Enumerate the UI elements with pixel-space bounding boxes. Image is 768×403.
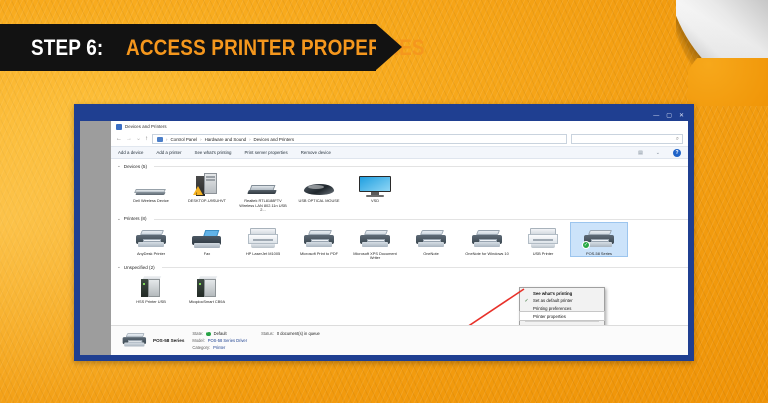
mouse-icon [296,173,342,197]
printer-tile-pos-58-series[interactable]: ✓ POS-58 Series [571,223,627,257]
breadcrumb-item-devices-and-printers[interactable]: Devices and Printers [254,137,295,142]
remove-device-button[interactable]: Remove device [301,150,331,155]
command-bar: Add a device Add a printer See what's pr… [111,146,688,159]
details-device-name: POS-58 Series [153,338,184,343]
multifunction-printer-icon [520,226,566,250]
details-row-category: Category: Printer [192,345,247,350]
divider [162,267,688,268]
device-tile-realtek-wlan[interactable]: Realtek RTL8188FTV Wireless LAN 802.11n … [235,170,291,213]
printer-context-menu: See what's printing ✓ Set as default pri… [519,287,605,325]
up-icon[interactable]: ↑ [145,136,148,142]
step-number-label: STEP 6: [31,35,103,61]
devices-and-printers-icon [116,124,122,130]
printer-tile-xps-writer[interactable]: Microsoft XPS Document Writer [347,223,403,261]
details-row-model: Model: POS-58 Series Driver [192,338,247,343]
devices-content-area: ⌄ Devices (5) Dell Wireless Device [111,159,688,325]
printer-icon [352,226,398,250]
printer-label: HP LaserJet M1005 [237,252,289,257]
address-bar: ← → ⌄ ↑ › Control Panel › Hardware and S… [111,132,688,146]
breadcrumb-separator-0: › [166,137,167,142]
search-icon: ⌕ [676,136,679,143]
details-printer-icon [119,331,145,351]
maximize-icon[interactable]: ▢ [666,113,672,119]
printer-tile-hp-laserjet[interactable]: HP LaserJet M1005 [235,223,291,257]
chevron-down-icon[interactable]: ⌄ [117,216,121,222]
details-row-status: Status: 0 document(s) in queue [261,331,320,336]
details-row-state: State: Default [192,331,247,336]
device-label: VSD [349,199,401,204]
recent-locations-icon[interactable]: ⌄ [136,136,141,142]
divider [154,219,689,220]
group-header-devices[interactable]: ⌄ Devices (5) [117,163,688,169]
printer-tile-print-to-pdf[interactable]: Microsoft Print to PDF [291,223,347,257]
unspecified-device-icon [128,274,174,298]
printer-icon [408,226,454,250]
print-server-properties-button[interactable]: Print server properties [245,150,288,155]
printer-icon [128,226,174,250]
details-key: Model: [192,338,204,343]
group-header-unspecified[interactable]: ⌄ Unspecified (2) [117,264,688,270]
see-whats-printing-button[interactable]: See what's printing [195,150,232,155]
printer-tile-fax[interactable]: Fax [179,223,235,257]
context-menu-item-see-whats-printing[interactable]: See what's printing [520,290,604,298]
printer-label: POS-58 Series [573,252,625,257]
printer-tile-onenote[interactable]: OneNote [403,223,459,257]
printer-icon [296,226,342,250]
group-title-unspecified: Unspecified (2) [124,265,155,270]
unspecified-tile-hss-printer-usb[interactable]: HSS Printer USB [123,271,179,305]
warning-icon [193,186,203,195]
usb-wifi-adapter-icon [240,173,286,197]
device-tile-dell-wireless[interactable]: Dell Wireless Device [123,170,179,204]
breadcrumb-separator-1: › [200,137,201,142]
windows-explorer-window: — ▢ ✕ Devices and Printers ← → ⌄ ↑ [80,110,688,355]
printer-icon [464,226,510,250]
back-icon[interactable]: ← [116,136,122,142]
devices-tile-row: Dell Wireless Device ! DESKTOP-U9SUHVT [117,170,688,213]
details-key: Category: [192,345,210,350]
fax-icon [184,226,230,250]
printer-label: USB Printer [517,252,569,257]
callout-arrow-icon [381,287,531,325]
change-view-icon[interactable]: ▤ [638,150,643,156]
printer-label: AnyDesk Printer [125,252,177,257]
banner-arrow-point [376,24,402,70]
device-tile-usb-mouse[interactable]: USB OPTICAL MOUSE [291,170,347,204]
context-menu-item-printer-properties[interactable]: Printer properties [520,312,604,320]
screenshot-frame: — ▢ ✕ Devices and Printers ← → ⌄ ↑ [74,104,694,361]
window-title-row: Devices and Printers [111,121,688,132]
details-value: 0 document(s) in queue [277,331,320,336]
details-pane: POS-58 Series State: Default Model: POS-… [111,325,688,355]
context-menu-label: Set as default printer [533,298,573,303]
group-title-printers: Printers (8) [124,216,147,221]
window-title: Devices and Printers [125,124,167,129]
device-label: Dell Wireless Device [125,199,177,204]
control-panel-icon [157,137,163,142]
printer-label: Microsoft Print to PDF [293,252,345,257]
add-a-printer-button[interactable]: Add a printer [156,150,181,155]
multifunction-printer-icon [240,226,286,250]
context-menu-separator [525,321,599,322]
details-value: Printer [213,345,225,350]
printer-icon: ✓ [576,226,622,250]
default-status-icon [206,332,211,337]
unspecified-label: HSS Printer USB [125,300,177,305]
printer-label: OneNote [405,252,457,257]
forward-icon[interactable]: → [126,136,132,142]
context-menu-item-set-as-default-printer[interactable]: ✓ Set as default printer [520,297,604,305]
search-input[interactable]: ⌕ [571,134,683,144]
add-a-device-button[interactable]: Add a device [118,150,143,155]
printer-label: OneNote for Windows 10 [461,252,513,257]
pc-tower-icon: ! [184,173,230,197]
group-header-printers[interactable]: ⌄ Printers (8) [117,216,688,222]
step-banner: STEP 6: ACCESS PRINTER PROPERTIES [0,24,376,71]
details-key: Status: [261,331,274,336]
page-curl-orange-underside [688,58,768,106]
details-value: POS-58 Series Driver [208,338,247,343]
device-label: Realtek RTL8188FTV Wireless LAN 802.11n … [237,199,289,213]
minimize-icon[interactable]: — [653,113,659,119]
divider [154,166,688,167]
left-gray-panel [80,121,111,355]
printers-tile-row: AnyDesk Printer Fax HP Las [117,223,688,261]
context-menu-item-printing-preferences[interactable]: Printing preferences [520,305,604,313]
printer-tile-usb-printer[interactable]: USB Printer [515,223,571,257]
close-icon[interactable]: ✕ [679,113,684,119]
flat-device-icon [128,173,174,197]
printer-tile-anydesk[interactable]: AnyDesk Printer [123,223,179,257]
unspecified-device-icon [184,274,230,298]
device-label: DESKTOP-U9SUHVT [181,199,233,204]
breadcrumb-item-control-panel[interactable]: Control Panel [171,137,198,142]
unspecified-tile-micqdocsmart[interactable]: MicqdocSmart CB9A [179,271,235,305]
printer-tile-onenote-win10[interactable]: OneNote for Windows 10 [459,223,515,257]
window-titlebar: — ▢ ✕ [80,110,688,121]
details-status-col: Status: 0 document(s) in queue [261,331,320,349]
details-key: State: [192,331,203,336]
breadcrumb-separator-2: › [249,137,250,142]
chevron-down-icon[interactable]: ⌄ [117,163,121,169]
unspecified-label: MicqdocSmart CB9A [181,300,233,305]
printer-label: Fax [181,252,233,257]
device-tile-vsd-monitor[interactable]: VSD [347,170,403,204]
chevron-down-icon[interactable]: ⌄ [656,150,660,156]
chevron-down-icon[interactable]: ⌄ [117,264,121,270]
context-menu-item-create-shortcut[interactable]: Create shortcut [520,323,604,325]
breadcrumb-item-hardware-and-sound[interactable]: Hardware and Sound [205,137,247,142]
group-title-devices: Devices (5) [124,164,147,169]
breadcrumb[interactable]: › Control Panel › Hardware and Sound › D… [152,134,567,144]
printer-label: Microsoft XPS Document Writer [349,252,401,261]
details-value: Default [214,331,227,336]
monitor-icon [352,173,398,197]
default-printer-badge-icon: ✓ [582,241,590,249]
help-button[interactable]: ? [673,149,681,157]
details-field-list: State: Default Model: POS-58 Series Driv… [192,331,247,349]
device-tile-desktop-pc[interactable]: ! DESKTOP-U9SUHVT [179,170,235,204]
device-label: USB OPTICAL MOUSE [293,199,345,204]
